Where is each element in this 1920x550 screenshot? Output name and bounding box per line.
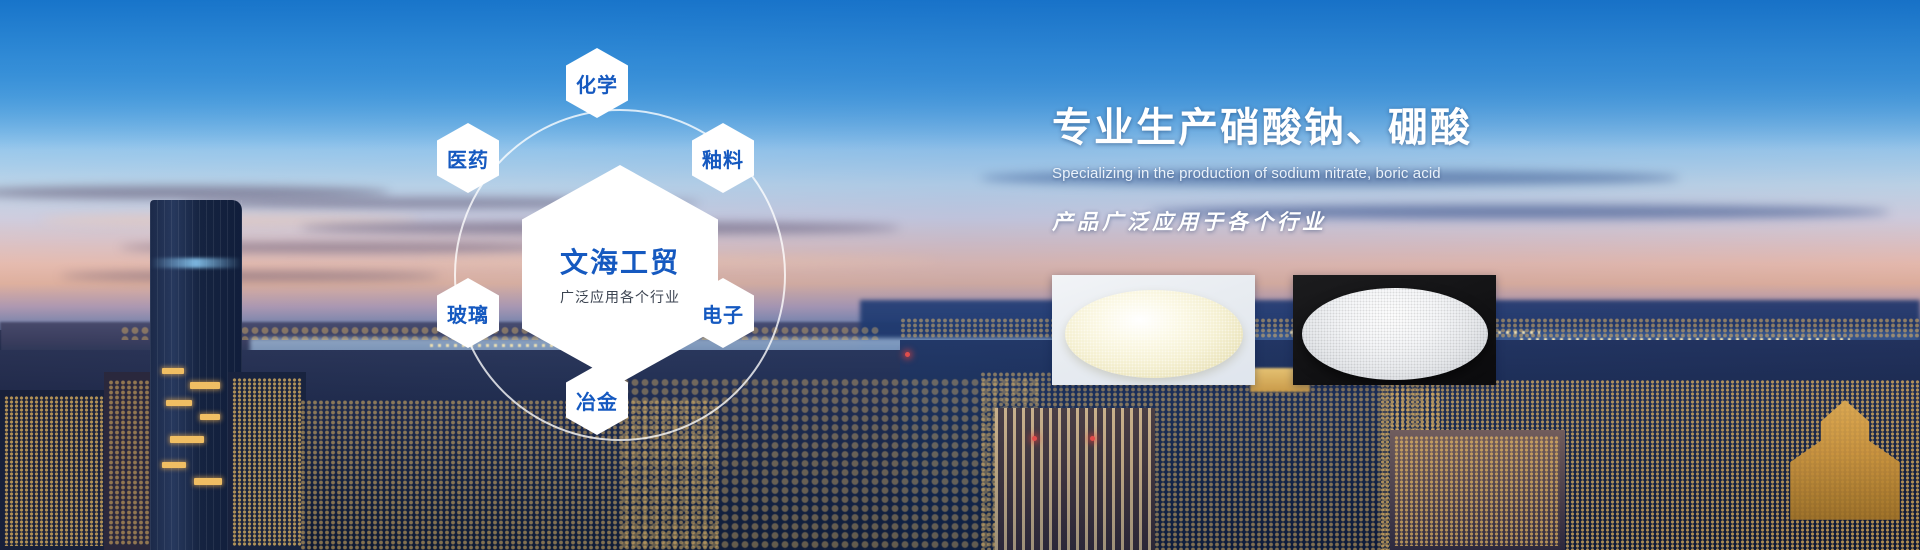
product-photo-group <box>1052 275 1496 385</box>
product-photo-boric-acid <box>1293 275 1496 385</box>
background-color-wash <box>0 0 1920 550</box>
company-name: 文海工贸 <box>560 241 680 281</box>
hex-node-label: 玻璃 <box>447 299 489 328</box>
product-photo-sodium-nitrate <box>1052 275 1255 385</box>
headline: 专业生产硝酸钠、硼酸 <box>1052 95 1752 153</box>
powder-pile <box>1065 290 1243 378</box>
powder-pile <box>1302 288 1488 380</box>
hex-node-label: 冶金 <box>576 386 618 415</box>
tagline: 产品广泛应用于各个行业 <box>1052 206 1752 236</box>
copy-block: 专业生产硝酸钠、硼酸 Specializing in the productio… <box>1052 95 1752 236</box>
hex-node-label: 釉料 <box>702 144 744 173</box>
background-cityscape <box>0 0 1920 550</box>
subhead-english: Specializing in the production of sodium… <box>1052 165 1752 182</box>
company-tagline: 广泛应用各个行业 <box>560 287 680 307</box>
hex-node-label: 电子 <box>702 299 744 328</box>
hex-node-label: 医药 <box>447 144 489 173</box>
promo-banner: 文海工贸 广泛应用各个行业 化学 釉料 电子 冶金 玻璃 医药 专业生产硝酸钠、… <box>0 0 1920 550</box>
powder-grain-texture <box>1302 288 1488 380</box>
hex-node-label: 化学 <box>576 69 618 98</box>
powder-grain-texture <box>1065 290 1243 378</box>
industry-hex-diagram: 文海工贸 广泛应用各个行业 化学 釉料 电子 冶金 玻璃 医药 <box>420 10 820 540</box>
